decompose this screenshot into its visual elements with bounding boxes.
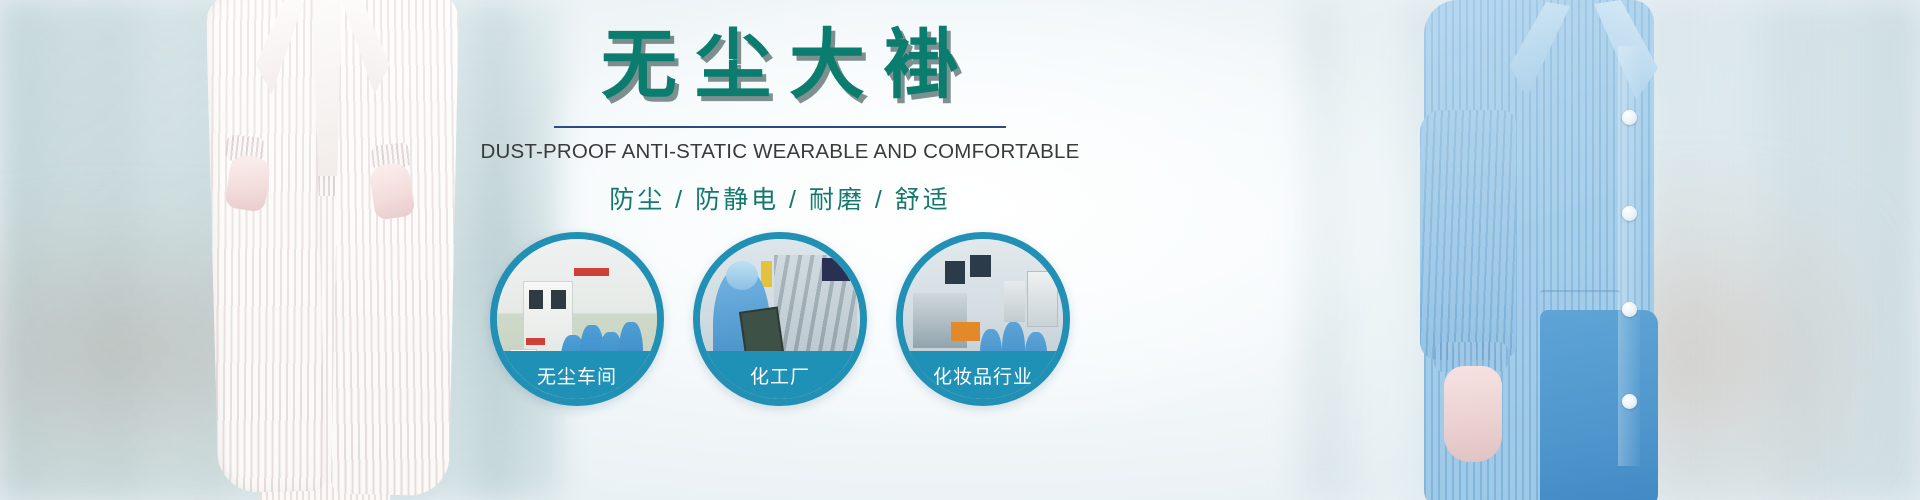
feature-list: 防尘 / 防静电 / 耐磨 / 舒适 [480,180,1080,216]
application-badges: 无尘车间 化工厂 [490,232,1070,392]
subtitle-english: DUST-PROOF ANTI-STATIC WEARABLE AND COMF… [480,140,1080,164]
page-title: 无尘大褂 [480,28,1080,104]
title-divider [554,126,1006,128]
badge-chemical-plant[interactable]: 化工厂 [693,232,867,406]
storage-box-shape [1027,271,1058,327]
window-shape [529,290,543,309]
coat-button [1622,110,1637,125]
monitor-shape [945,261,966,283]
tablet-device [739,307,784,358]
monitor-shape [970,255,991,277]
coat-button [1622,302,1637,317]
badge-label: 化工厂 [700,351,860,399]
worker-hood [726,261,758,290]
model-coat-lower-panel [1540,310,1658,500]
model-sleeve-left [1420,110,1516,360]
window-shape [551,290,565,309]
badge-label: 化妆品行业 [903,351,1063,399]
badge-label: 无尘车间 [497,351,657,399]
model-pocket [1540,290,1620,308]
monitor-shape [822,258,851,280]
product-banner: 无尘大褂 DUST-PROOF ANTI-STATIC WEARABLE AND… [0,0,1920,500]
equipment-accent [761,261,772,287]
sign-shape [526,338,545,344]
model-coat-right-panel [331,0,460,496]
storage-box-shape [1004,281,1025,323]
headline-block: 无尘大褂 DUST-PROOF ANTI-STATIC WEARABLE AND… [480,28,1080,216]
model-gloved-hand [1444,366,1502,462]
badge-cleanroom-workshop[interactable]: 无尘车间 [490,232,664,406]
equipment-accent [951,322,980,341]
coat-button [1622,394,1637,409]
white-cleanroom-suit-model [150,0,480,500]
coat-button [1622,206,1637,221]
badge-cosmetics-industry[interactable]: 化妆品行业 [896,232,1070,406]
sign-shape [574,268,609,276]
model-glove-left [224,153,271,212]
blue-cleanroom-coat-model [1390,0,1770,500]
